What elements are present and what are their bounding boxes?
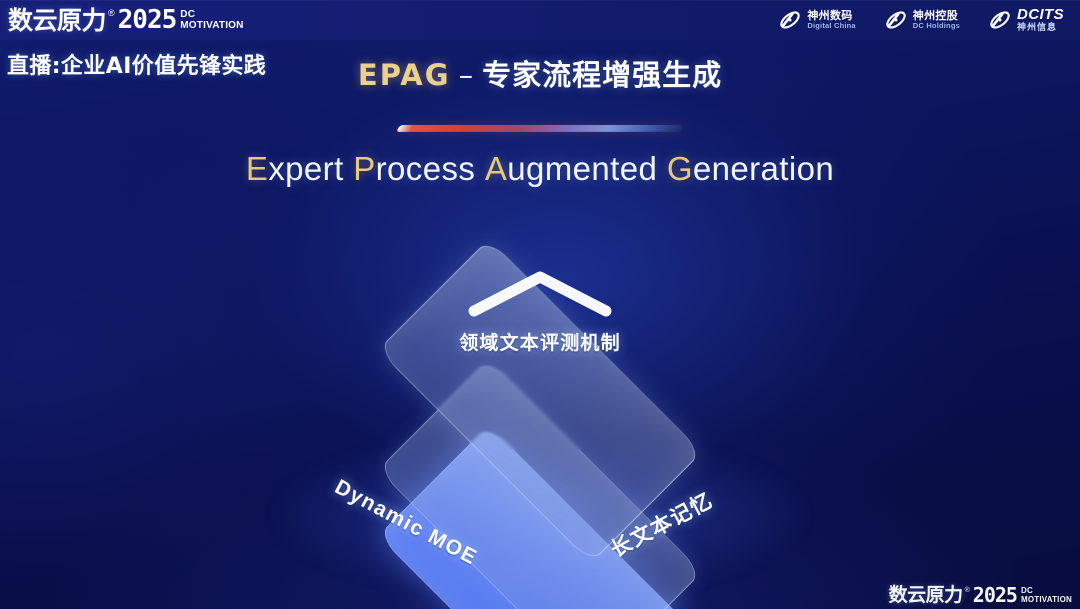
layered-architecture-diagram: 三类语义建模模块 Dynamic MOE 长文本记忆 领域文本评测机制: [215, 215, 865, 590]
watermark-year: 2025: [973, 585, 1017, 605]
logo-label-cn: 神州控股: [913, 10, 960, 22]
brand-logo: 数云原力 ® 2025 DC MOTIVATION: [8, 7, 244, 33]
subtitle-cap-p: P: [353, 150, 375, 187]
swoosh-icon: [988, 8, 1012, 32]
logo-dcits: DCITS 神州信息: [988, 7, 1064, 33]
bottom-watermark-logo: 数云原力 ® 2025 DC MOTIVATION: [889, 585, 1072, 605]
subtitle-word-expert: xpert: [268, 150, 343, 187]
logo-digital-china: 神州数码 Digital China: [778, 8, 855, 32]
swoosh-icon: [778, 8, 802, 32]
subtitle-cap-a: A: [485, 150, 507, 187]
page-title-dash: –: [459, 58, 475, 92]
watermark-name-cn: 数云原力: [889, 586, 963, 605]
registered-mark-icon: ®: [108, 9, 115, 18]
page-subtitle: Expert Process Augmented Generation: [0, 150, 1080, 188]
partner-logos: 神州数码 Digital China 神州控股 DC Holdings: [778, 7, 1070, 33]
watermark-dc-line1: DC: [1021, 587, 1072, 595]
page-title: EPAG–专家流程增强生成: [0, 52, 1080, 94]
logo-label-en: DCITS: [1017, 7, 1064, 23]
brand-dc-line1: DC: [180, 10, 243, 20]
subtitle-cap-g: G: [667, 150, 693, 187]
brand-name-cn: 数云原力: [8, 8, 106, 33]
logo-dc-holdings: 神州控股 DC Holdings: [884, 8, 960, 32]
logo-label-cn: 神州数码: [807, 10, 855, 22]
logo-dcits-text: DCITS 神州信息: [1017, 7, 1064, 33]
diagram-layer-top[interactable]: 领域文本评测机制: [215, 213, 865, 588]
brand-dc-line2: MOTIVATION: [180, 21, 243, 31]
logo-label-en: Digital China: [807, 22, 855, 30]
page-title-abbr: EPAG: [358, 58, 451, 92]
brand-year: 2025: [118, 7, 177, 33]
chevron-up-icon: [464, 265, 616, 326]
logo-dc-holdings-text: 神州控股 DC Holdings: [913, 10, 960, 30]
top-bar: 数云原力 ® 2025 DC MOTIVATION 神州数码: [0, 0, 1080, 40]
registered-mark-icon: ®: [965, 587, 970, 594]
page-title-cn: 专家流程增强生成: [482, 58, 722, 92]
swoosh-icon: [884, 8, 908, 32]
subtitle-word-generation: eneration: [693, 150, 834, 187]
logo-label-cn: 神州信息: [1017, 24, 1064, 33]
subtitle-word-process: rocess: [376, 150, 476, 187]
brand-dc-motivation: DC MOTIVATION: [180, 10, 243, 31]
gradient-divider: [396, 125, 684, 132]
watermark-dc-motivation: DC MOTIVATION: [1021, 587, 1072, 604]
slide-root: 数云原力 ® 2025 DC MOTIVATION 神州数码: [0, 0, 1080, 609]
subtitle-cap-e: E: [246, 150, 268, 187]
logo-label-en: DC Holdings: [913, 22, 960, 30]
logo-digital-china-text: 神州数码 Digital China: [807, 10, 855, 30]
subtitle-word-augmented: ugmented: [507, 150, 657, 187]
watermark-dc-line2: MOTIVATION: [1021, 596, 1072, 604]
